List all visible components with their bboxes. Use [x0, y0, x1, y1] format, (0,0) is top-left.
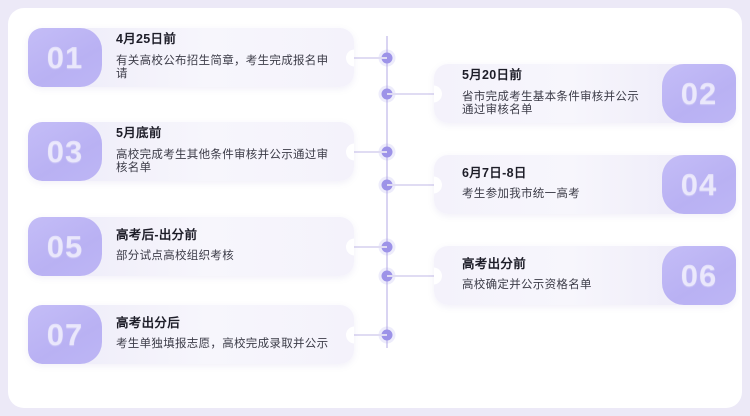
timeline-card-04[interactable]: 04 6月7日-8日 考生参加我市统一高考 — [434, 155, 736, 214]
card-body-01: 4月25日前 有关高校公布招生简章，考生完成报名申请 — [116, 28, 336, 87]
card-desc-05: 部分试点高校组织考核 — [116, 250, 336, 264]
timeline-card-03[interactable]: 03 5月底前 高校完成考生其他条件审核并公示通过审核名单 — [28, 122, 354, 181]
step-number-badge-04: 04 — [662, 155, 736, 214]
timeline-card-06[interactable]: 06 高考出分前 高校确定并公示资格名单 — [434, 246, 736, 305]
card-desc-07: 考生单独填报志愿，高校完成录取并公示 — [116, 338, 336, 352]
card-body-03: 5月底前 高校完成考生其他条件审核并公示通过审核名单 — [116, 122, 336, 181]
step-number-badge-03: 03 — [28, 122, 102, 181]
card-notch-05 — [346, 238, 354, 255]
card-body-02: 5月20日前 省市完成考生基本条件审核并公示通过审核名单 — [462, 64, 644, 123]
card-desc-06: 高校确定并公示资格名单 — [462, 279, 644, 293]
card-notch-01 — [346, 49, 354, 66]
card-body-07: 高考出分后 考生单独填报志愿，高校完成录取并公示 — [116, 305, 336, 364]
card-desc-04: 考生参加我市统一高考 — [462, 188, 644, 202]
timeline-card-07[interactable]: 07 高考出分后 考生单独填报志愿，高校完成录取并公示 — [28, 305, 354, 364]
card-notch-07 — [346, 326, 354, 343]
timeline-card-02[interactable]: 02 5月20日前 省市完成考生基本条件审核并公示通过审核名单 — [434, 64, 736, 123]
card-title-02: 5月20日前 — [462, 69, 644, 83]
card-title-07: 高考出分后 — [116, 317, 336, 331]
card-desc-03: 高校完成考生其他条件审核并公示通过审核名单 — [116, 149, 336, 177]
card-desc-01: 有关高校公布招生简章，考生完成报名申请 — [116, 55, 336, 83]
card-notch-06 — [434, 267, 442, 284]
card-title-01: 4月25日前 — [116, 33, 336, 47]
diagram-canvas: 01 4月25日前 有关高校公布招生简章，考生完成报名申请 02 5月20日前 … — [0, 0, 750, 416]
step-number-badge-07: 07 — [28, 305, 102, 364]
step-number-badge-02: 02 — [662, 64, 736, 123]
timeline-rail — [386, 36, 388, 348]
card-notch-04 — [434, 176, 442, 193]
card-title-04: 6月7日-8日 — [462, 167, 644, 181]
diagram-frame: 01 4月25日前 有关高校公布招生简章，考生完成报名申请 02 5月20日前 … — [8, 8, 742, 408]
card-notch-02 — [434, 85, 442, 102]
step-number-badge-06: 06 — [662, 246, 736, 305]
step-number-badge-01: 01 — [28, 28, 102, 87]
timeline-card-01[interactable]: 01 4月25日前 有关高校公布招生简章，考生完成报名申请 — [28, 28, 354, 87]
card-title-05: 高考后-出分前 — [116, 229, 336, 243]
step-number-badge-05: 05 — [28, 217, 102, 276]
connector-04 — [387, 184, 435, 186]
card-title-03: 5月底前 — [116, 127, 336, 141]
card-title-06: 高考出分前 — [462, 258, 644, 272]
card-body-04: 6月7日-8日 考生参加我市统一高考 — [462, 155, 644, 214]
connector-02 — [387, 93, 435, 95]
card-body-05: 高考后-出分前 部分试点高校组织考核 — [116, 217, 336, 276]
timeline-card-05[interactable]: 05 高考后-出分前 部分试点高校组织考核 — [28, 217, 354, 276]
card-desc-02: 省市完成考生基本条件审核并公示通过审核名单 — [462, 91, 644, 119]
card-body-06: 高考出分前 高校确定并公示资格名单 — [462, 246, 644, 305]
connector-06 — [387, 275, 435, 277]
card-notch-03 — [346, 143, 354, 160]
